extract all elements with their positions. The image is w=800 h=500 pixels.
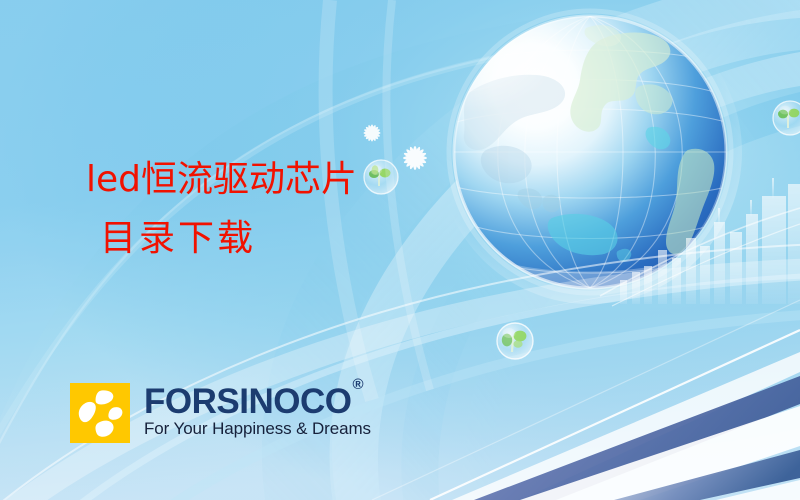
registered-trademark-icon: ® xyxy=(352,376,363,393)
four-petal-pinwheel-icon xyxy=(70,383,130,443)
logo-text-block: FORSINOCO® For Your Happiness & Dreams xyxy=(144,384,371,438)
logo-tagline: For Your Happiness & Dreams xyxy=(144,419,371,438)
logo-wordmark-text: FORSINOCO xyxy=(144,382,351,421)
starburst-large xyxy=(403,146,427,170)
starburst-small xyxy=(363,124,380,141)
company-logo: FORSINOCO® For Your Happiness & Dreams xyxy=(70,383,371,443)
bubble-seedling-lower xyxy=(497,323,533,359)
bubble-seedling-right xyxy=(773,101,800,135)
banner-canvas: led恒流驱动芯片 目录下载 FORSINOCO® For Your Happ xyxy=(0,0,800,500)
logo-wordmark: FORSINOCO® xyxy=(144,384,371,420)
